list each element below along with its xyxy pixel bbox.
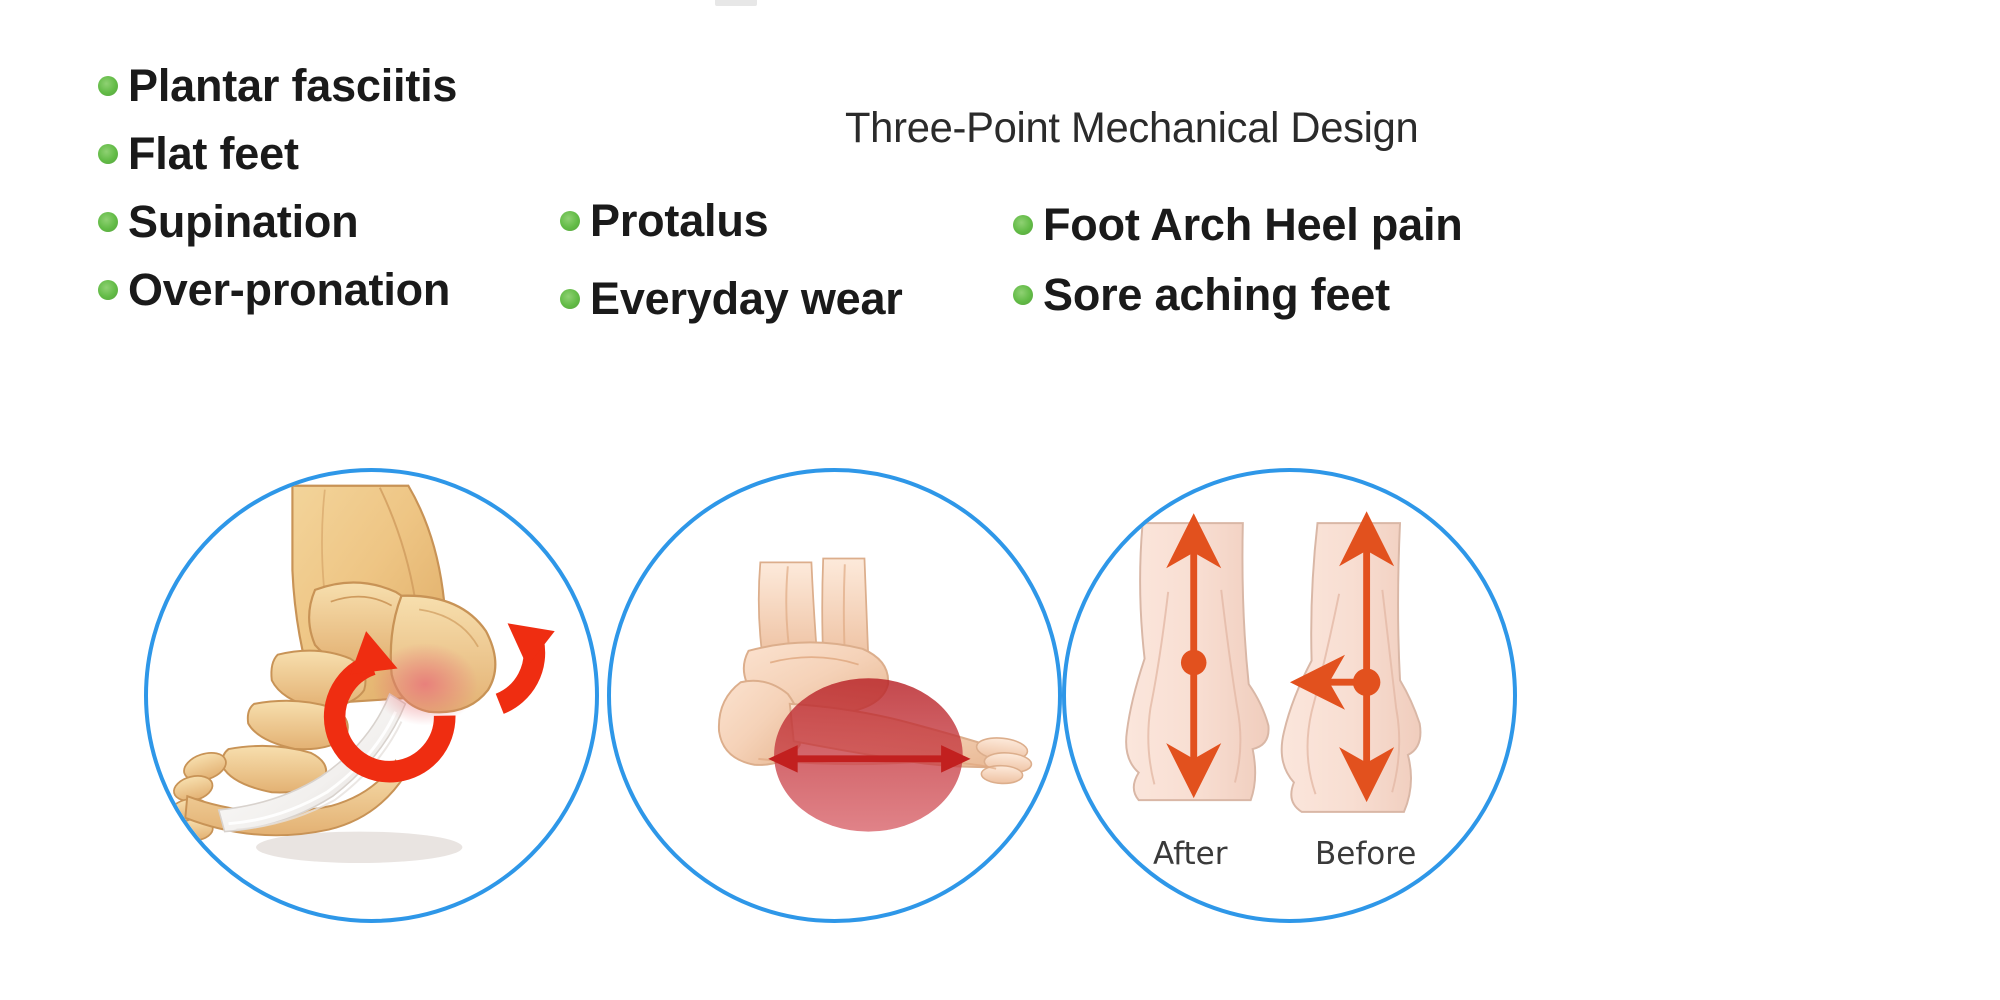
foot-pressure-zone-icon xyxy=(611,472,1058,919)
list-item: Sore aching feet xyxy=(1013,260,1463,330)
illustration-circle-plantar-fascia xyxy=(144,468,599,923)
list-item: Over-pronation xyxy=(98,256,457,324)
list-item: Supination xyxy=(98,188,457,256)
list-item-label: Supination xyxy=(128,196,358,248)
green-dot-icon xyxy=(98,144,118,164)
green-dot-icon xyxy=(98,76,118,96)
plantar-fascia-rotation-icon xyxy=(148,472,595,919)
list-item-label: Foot Arch Heel pain xyxy=(1043,199,1463,251)
green-dot-icon xyxy=(98,212,118,232)
green-dot-icon xyxy=(1013,215,1033,235)
list-item: Plantar fasciitis xyxy=(98,52,457,120)
benefits-list-middle: Protalus Everyday wear xyxy=(560,182,903,338)
comparison-label-before: Before xyxy=(1315,836,1416,872)
green-dot-icon xyxy=(560,211,580,231)
list-item-label: Flat feet xyxy=(128,128,299,180)
green-dot-icon xyxy=(98,280,118,300)
list-item-label: Plantar fasciitis xyxy=(128,60,457,112)
list-item-label: Protalus xyxy=(590,195,768,247)
benefits-list-right: Foot Arch Heel pain Sore aching feet xyxy=(1013,190,1463,330)
list-item: Protalus xyxy=(560,182,903,260)
list-item-label: Over-pronation xyxy=(128,264,450,316)
list-item: Flat feet xyxy=(98,120,457,188)
list-item-label: Sore aching feet xyxy=(1043,269,1390,321)
list-item: Everyday wear xyxy=(560,260,903,338)
list-item-label: Everyday wear xyxy=(590,273,903,325)
comparison-label-after: After xyxy=(1153,836,1227,872)
illustration-circle-alignment-comparison xyxy=(1062,468,1517,923)
list-item: Foot Arch Heel pain xyxy=(1013,190,1463,260)
section-title: Three-Point Mechanical Design xyxy=(845,104,1418,153)
alignment-comparison-icon xyxy=(1066,472,1513,919)
green-dot-icon xyxy=(560,289,580,309)
illustration-circle-pressure-zone xyxy=(607,468,1062,923)
top-edge-artifact xyxy=(715,0,757,6)
benefits-list-left: Plantar fasciitis Flat feet Supination O… xyxy=(98,52,457,324)
green-dot-icon xyxy=(1013,285,1033,305)
